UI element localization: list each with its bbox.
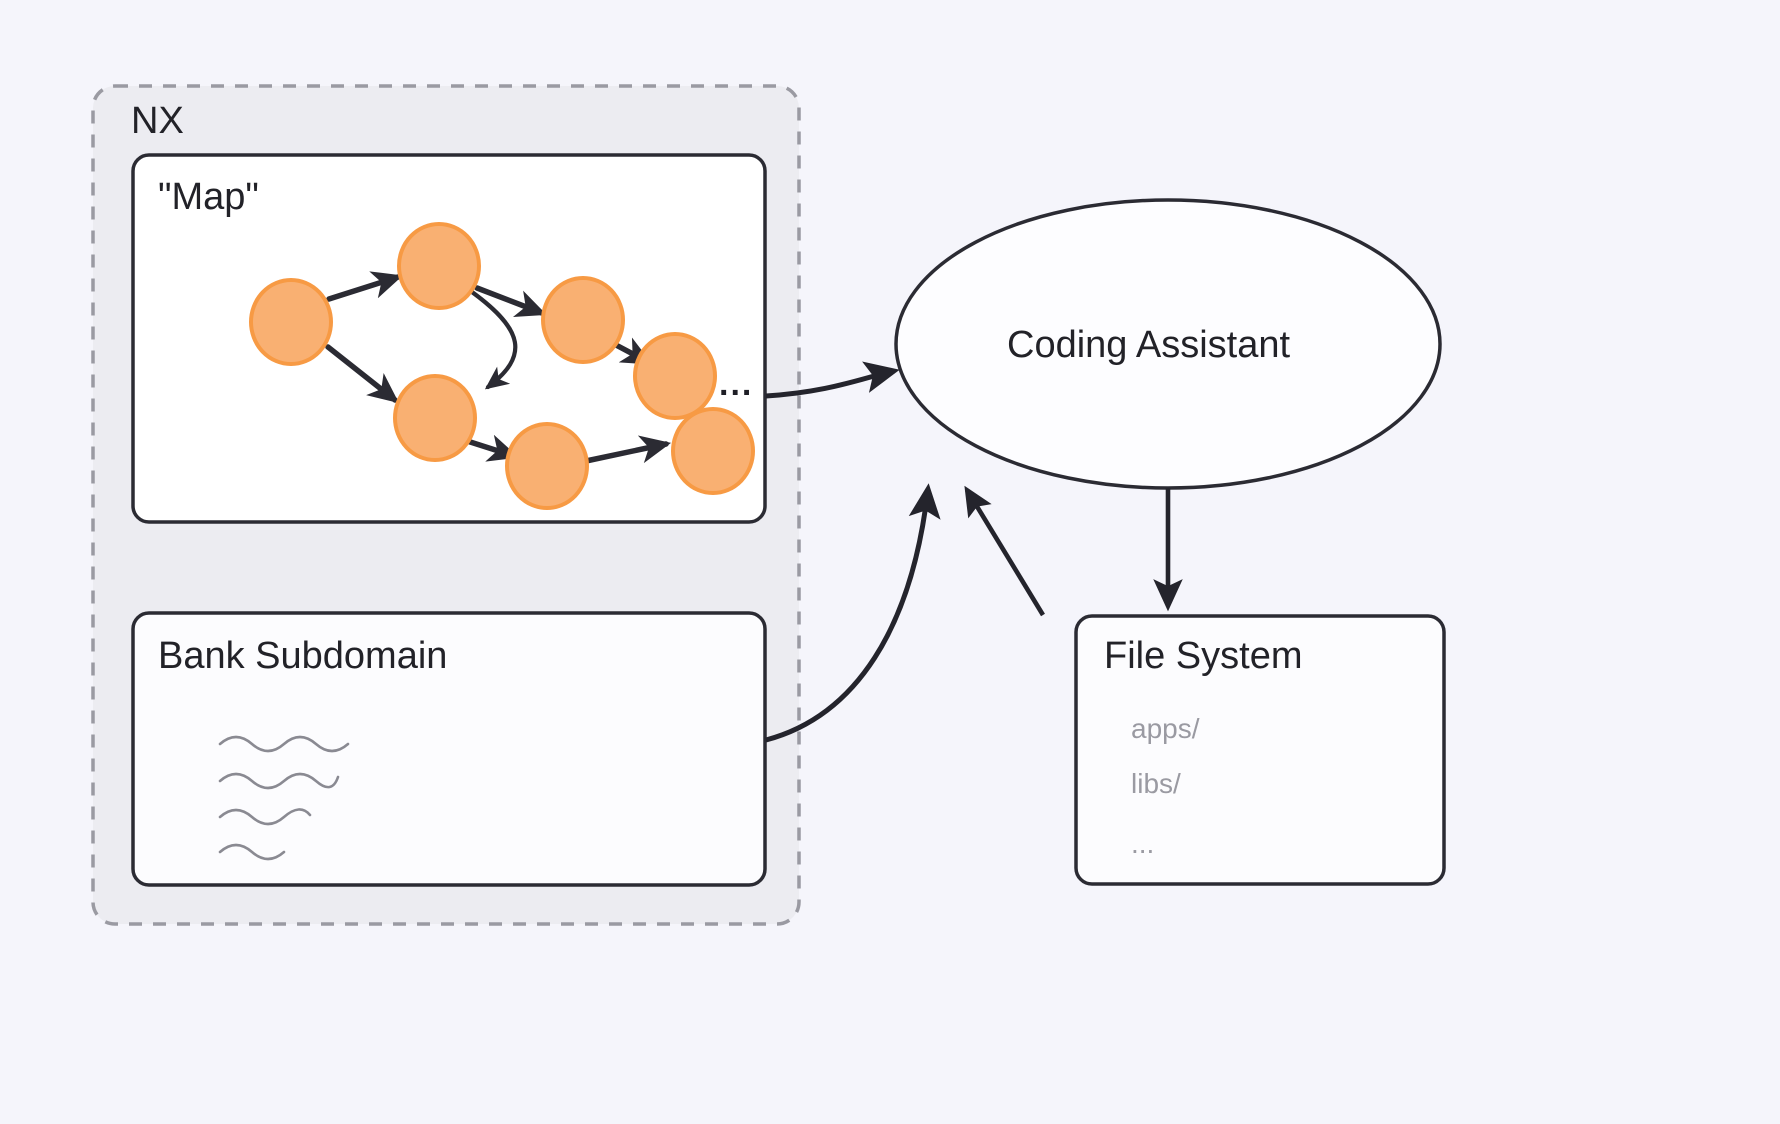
bank-subdomain-label: Bank Subdomain [158, 635, 447, 678]
map-graph-ellipsis: ... [719, 365, 753, 404]
connector-filesystem-to-coding-assistant [967, 490, 1043, 615]
graph-node-n4[interactable] [635, 334, 715, 418]
file-system-item-libs: libs/ [1131, 768, 1181, 800]
graph-node-n3[interactable] [543, 278, 623, 362]
file-system-item-more: ... [1131, 828, 1154, 860]
nx-container-label: NX [131, 100, 184, 143]
graph-node-n6[interactable] [507, 424, 587, 508]
diagram-canvas: NX "Map" ... Bank Subdomain Coding Assis… [0, 0, 1780, 1124]
file-system-item-apps: apps/ [1131, 713, 1200, 745]
graph-node-n5[interactable] [395, 376, 475, 460]
coding-assistant-label: Coding Assistant [1007, 324, 1290, 367]
graph-node-n2[interactable] [399, 224, 479, 308]
file-system-label: File System [1104, 635, 1302, 678]
map-panel-label: "Map" [158, 176, 259, 219]
diagram-svg [0, 0, 1780, 1124]
graph-node-n1[interactable] [251, 280, 331, 364]
graph-node-n7[interactable] [673, 409, 753, 493]
